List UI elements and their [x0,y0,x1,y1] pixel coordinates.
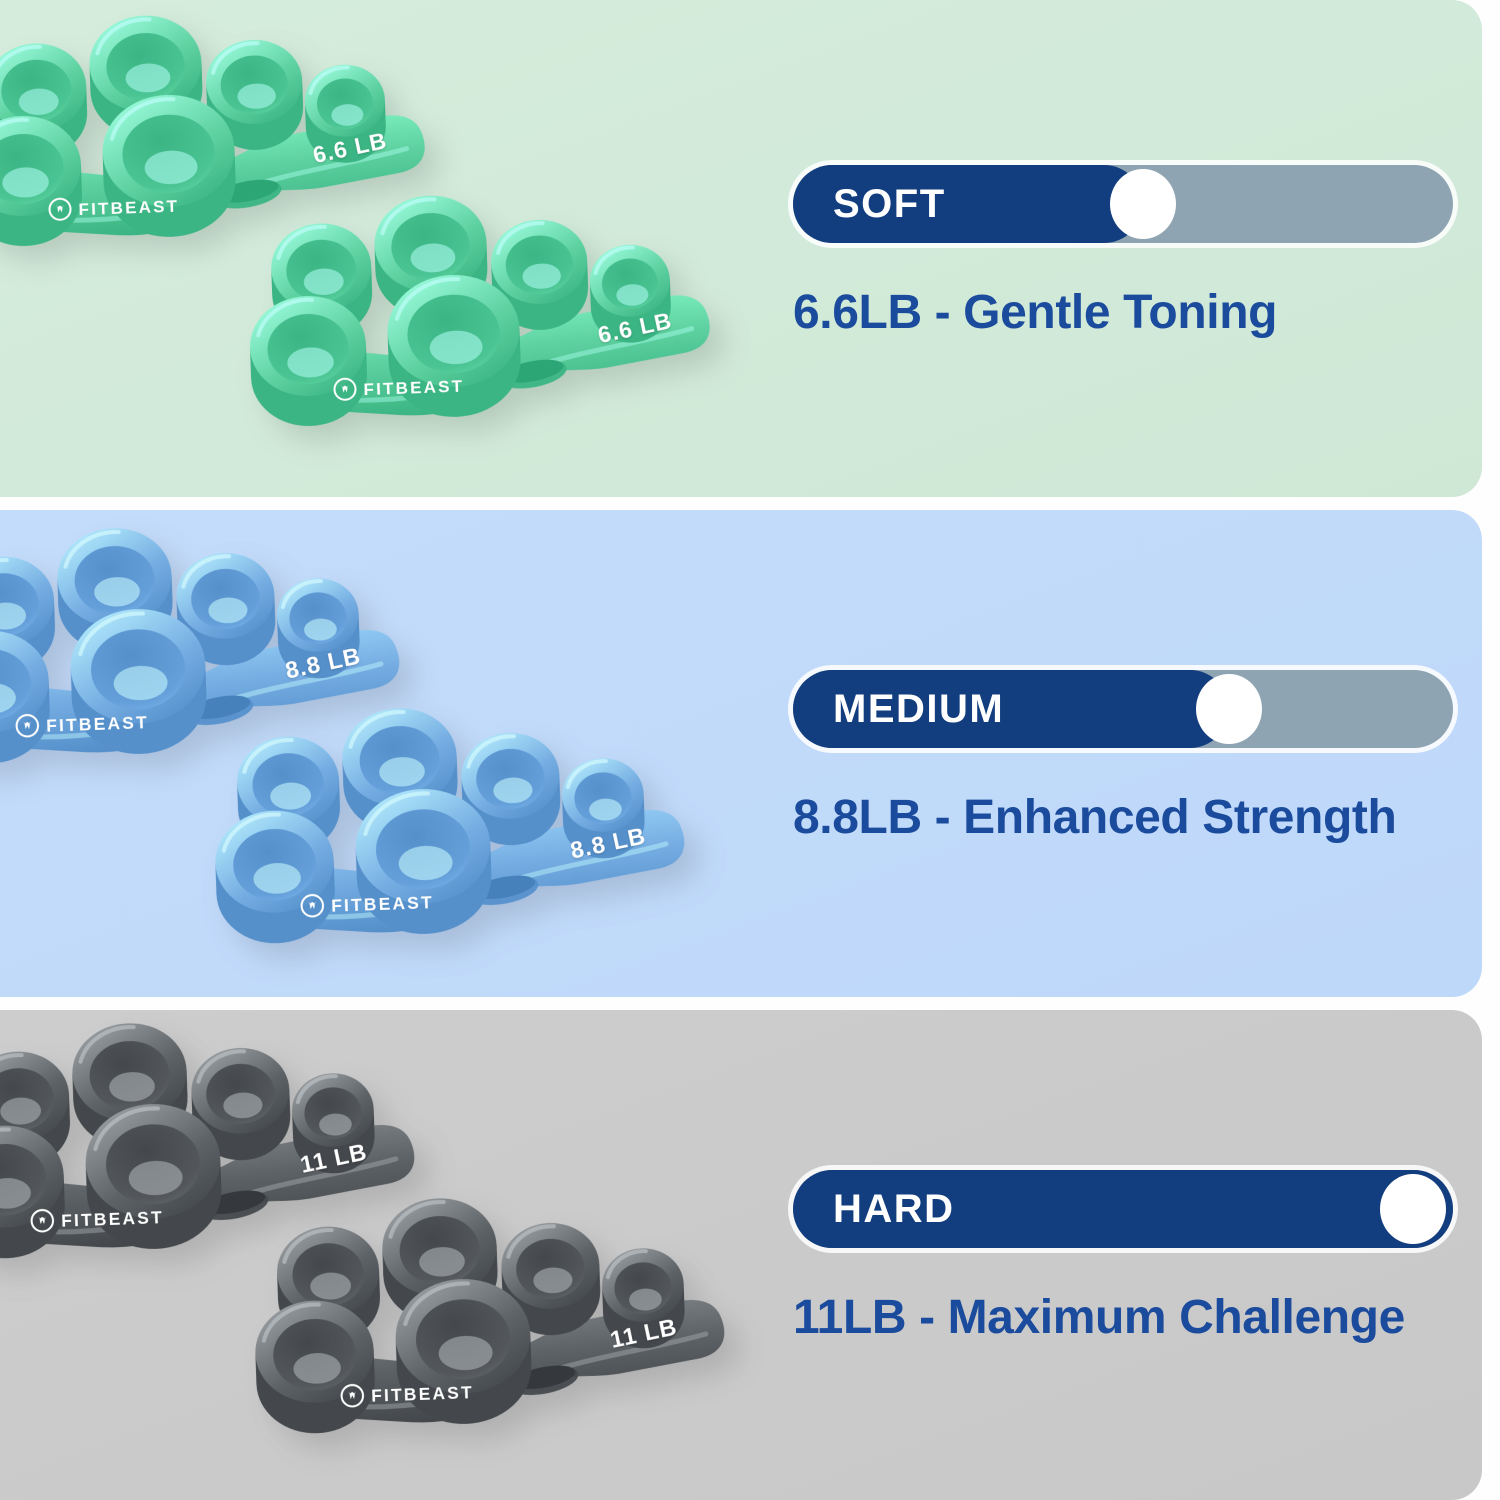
slider-knob-hard[interactable] [1380,1174,1446,1244]
slider-label-medium: MEDIUM [833,687,1004,732]
section-soft: FITBEAST6.6 LBFITBEAST6.6 LB SOFT 6.6LB … [0,0,1482,497]
slider-knob-medium[interactable] [1196,674,1262,744]
resistance-slider-medium[interactable]: MEDIUM [793,670,1453,748]
slider-fill-soft: SOFT [793,165,1143,243]
description-hard: 11LB - Maximum Challenge [793,1290,1453,1345]
section-soft-info: SOFT 6.6LB - Gentle Toning [793,165,1453,340]
description-soft: 6.6LB - Gentle Toning [793,285,1453,340]
slider-label-hard: HARD [833,1187,955,1232]
section-medium-info: MEDIUM 8.8LB - Enhanced Strength [793,670,1453,845]
section-hard-info: HARD 11LB - Maximum Challenge [793,1170,1453,1345]
section-hard: FITBEAST11 LBFITBEAST11 LB HARD 11LB - M… [0,1010,1482,1500]
slider-knob-soft[interactable] [1110,169,1176,239]
description-medium: 8.8LB - Enhanced Strength [793,790,1453,845]
slider-label-soft: SOFT [833,182,946,227]
resistance-slider-hard[interactable]: HARD [793,1170,1453,1248]
infographic-page: FITBEAST6.6 LBFITBEAST6.6 LB SOFT 6.6LB … [0,0,1500,1500]
slider-fill-medium: MEDIUM [793,670,1229,748]
section-medium: FITBEAST8.8 LBFITBEAST8.8 LB MEDIUM 8.8L… [0,510,1482,997]
resistance-slider-soft[interactable]: SOFT [793,165,1453,243]
slider-fill-hard: HARD [793,1170,1453,1248]
